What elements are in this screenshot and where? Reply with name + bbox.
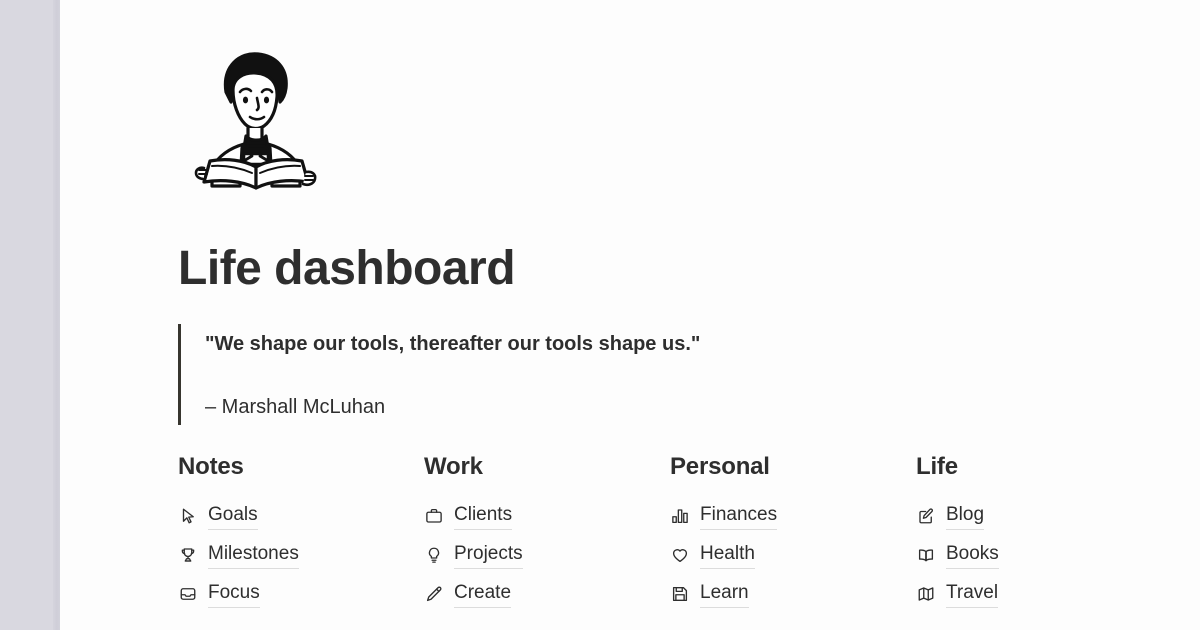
sidebar-edge-divider [53,0,60,630]
column-title-personal: Personal [670,453,916,481]
link-row-milestones[interactable]: Milestones [178,536,424,575]
column-title-notes: Notes [178,453,424,481]
link-label-focus[interactable]: Focus [208,581,260,608]
pencil-icon [424,584,444,604]
link-row-clients[interactable]: Clients [424,497,670,536]
link-columns: Notes Goals Milestones [178,453,1200,614]
link-row-finances[interactable]: Finances [670,497,916,536]
column-work: Work Clients Projects [424,453,670,614]
cursor-arrow-icon [178,506,198,526]
column-title-work: Work [424,453,670,481]
column-personal: Personal Finances Health [670,453,916,614]
link-label-health[interactable]: Health [700,542,755,569]
link-label-projects[interactable]: Projects [454,542,523,569]
link-label-milestones[interactable]: Milestones [208,542,299,569]
page-content: Life dashboard "We shape our tools, ther… [60,0,1200,614]
floppy-disk-icon [670,584,690,604]
link-row-travel[interactable]: Travel [916,575,1162,614]
collapsed-sidebar[interactable] [0,0,60,630]
link-label-books[interactable]: Books [946,542,999,569]
briefcase-icon [424,506,444,526]
link-row-focus[interactable]: Focus [178,575,424,614]
link-row-books[interactable]: Books [916,536,1162,575]
link-label-travel[interactable]: Travel [946,581,998,608]
page-title: Life dashboard [178,242,1200,296]
link-row-learn[interactable]: Learn [670,575,916,614]
link-label-learn[interactable]: Learn [700,581,749,608]
link-label-create[interactable]: Create [454,581,511,608]
heart-icon [670,545,690,565]
link-row-blog[interactable]: Blog [916,497,1162,536]
link-row-health[interactable]: Health [670,536,916,575]
quote-author: – Marshall McLuhan [205,393,1200,421]
inbox-tray-icon [178,584,198,604]
trophy-icon [178,545,198,565]
column-life: Life Blog Books T [916,453,1162,614]
link-label-clients[interactable]: Clients [454,503,512,530]
open-book-icon [916,545,936,565]
bar-chart-icon [670,506,690,526]
link-label-finances[interactable]: Finances [700,503,777,530]
column-notes: Notes Goals Milestones [178,453,424,614]
link-label-goals[interactable]: Goals [208,503,258,530]
link-row-projects[interactable]: Projects [424,536,670,575]
link-row-goals[interactable]: Goals [178,497,424,536]
page-canvas: Life dashboard "We shape our tools, ther… [60,0,1200,630]
quote-text: "We shape our tools, thereafter our tool… [205,330,1200,359]
lightbulb-icon [424,545,444,565]
person-reading-book-illustration [178,40,328,190]
link-row-create[interactable]: Create [424,575,670,614]
link-label-blog[interactable]: Blog [946,503,984,530]
column-title-life: Life [916,453,1162,481]
edit-square-icon [916,506,936,526]
folded-map-icon [916,584,936,604]
quote-block: "We shape our tools, thereafter our tool… [178,324,1200,425]
